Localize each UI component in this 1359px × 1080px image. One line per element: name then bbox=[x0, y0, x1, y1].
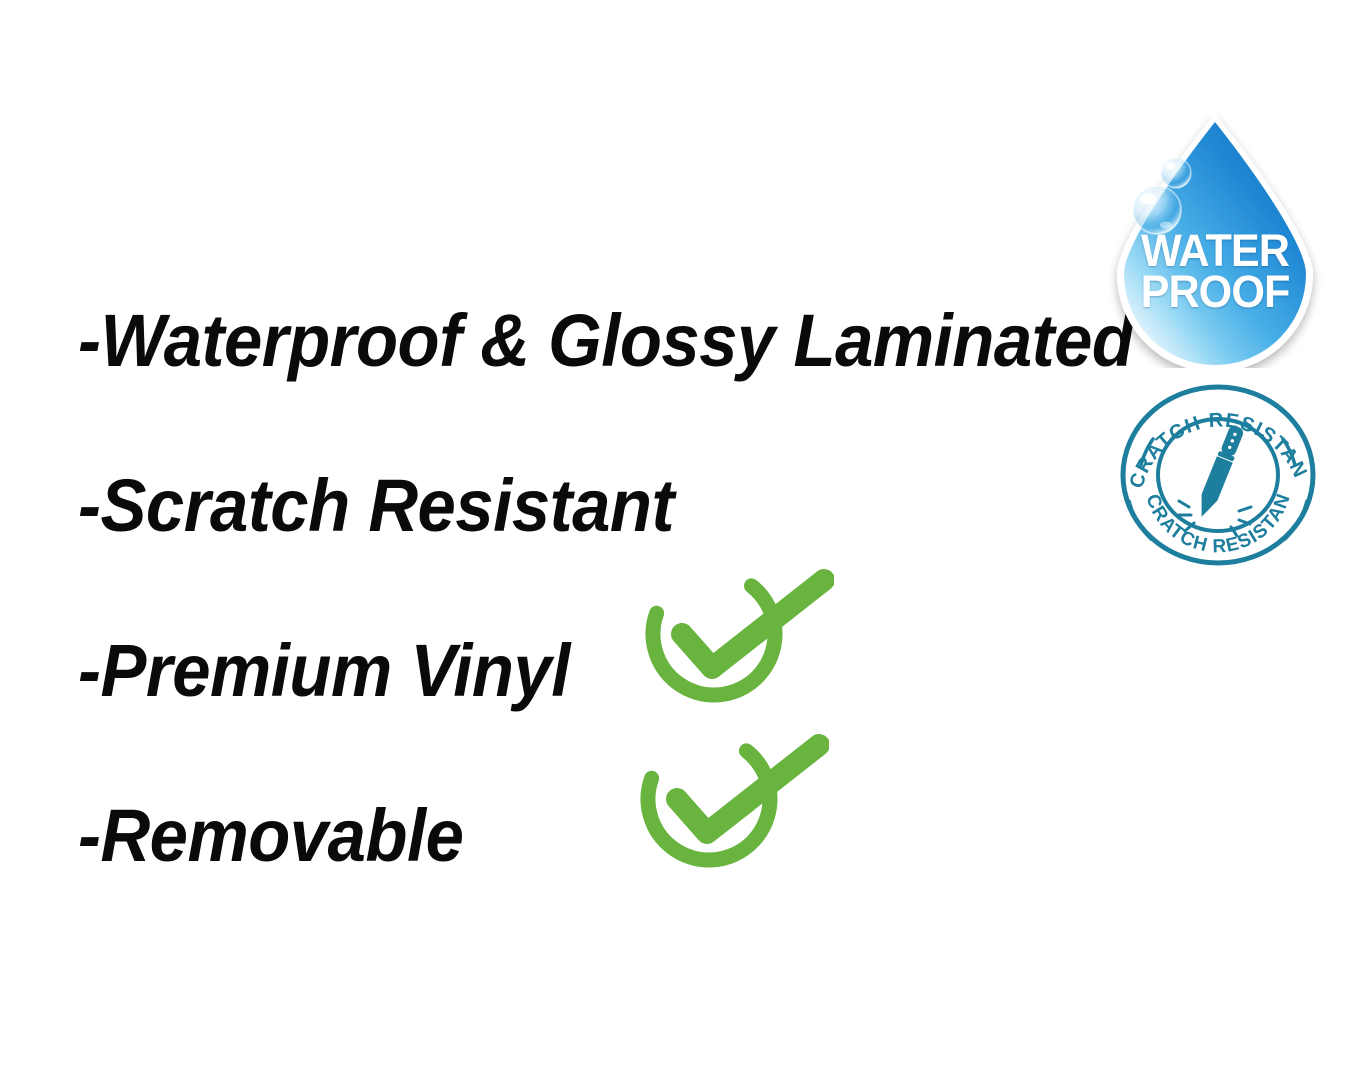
feature-label-scratch-resistant: -Scratch Resistant bbox=[78, 469, 674, 543]
water-bubble-icon bbox=[1161, 158, 1191, 188]
page-canvas: -Waterproof & Glossy Laminated -Scratch … bbox=[0, 0, 1359, 1080]
list-item: -Scratch Resistant bbox=[78, 423, 1108, 588]
feature-label-waterproof-glossy-laminated: -Waterproof & Glossy Laminated bbox=[78, 304, 1133, 378]
waterproof-badge: WATER PROOF bbox=[1104, 106, 1326, 368]
knife-icon bbox=[1194, 424, 1246, 520]
list-item: -Waterproof & Glossy Laminated bbox=[78, 258, 1108, 423]
feature-list: -Waterproof & Glossy Laminated -Scratch … bbox=[78, 258, 1108, 918]
feature-label-removable: -Removable bbox=[78, 799, 463, 873]
check-circle-icon bbox=[633, 723, 829, 875]
check-circle-icon bbox=[638, 558, 834, 710]
scratch-resistant-badge: SCRATCH RESISTANT SCRATCH RESISTANT bbox=[1117, 381, 1319, 569]
water-bubble-icon bbox=[1133, 186, 1181, 234]
feature-label-premium-vinyl: -Premium Vinyl bbox=[78, 634, 570, 708]
list-item: -Premium Vinyl bbox=[78, 588, 1108, 753]
list-item: -Removable bbox=[78, 753, 1108, 918]
